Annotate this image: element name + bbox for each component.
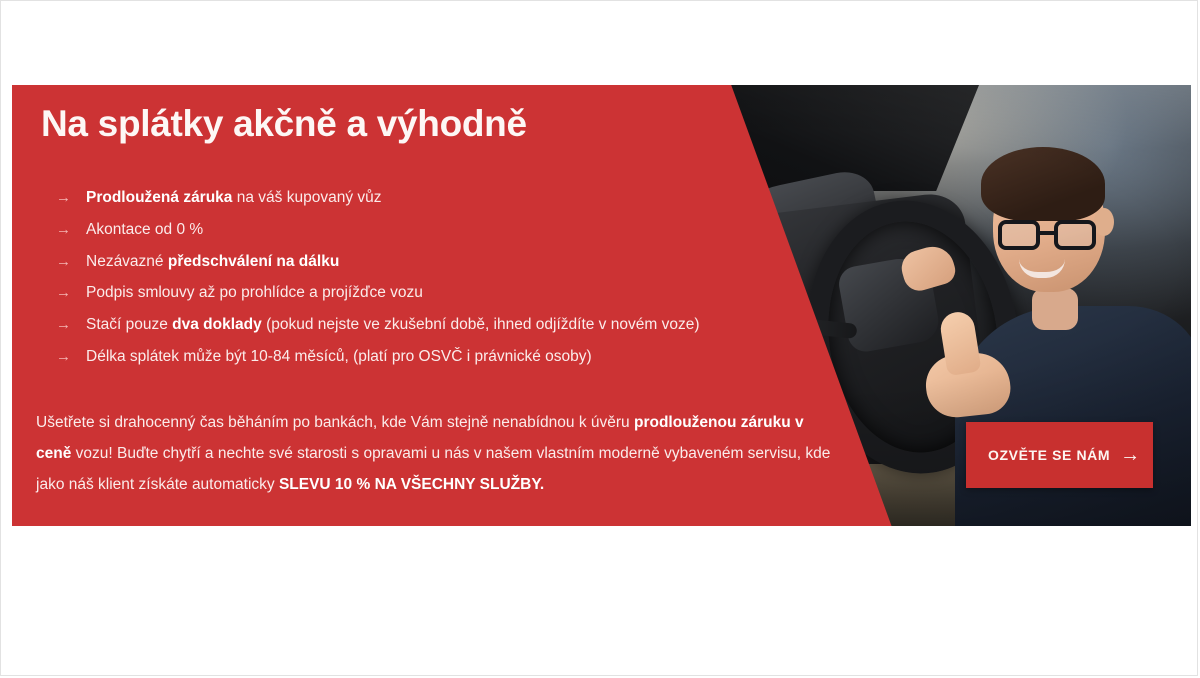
banner-content: Na splátky akčně a výhodně → Prodloužená… <box>12 85 1191 526</box>
page-frame: Na splátky akčně a výhodně → Prodloužená… <box>0 0 1198 676</box>
list-item-emphasis: Prodloužená záruka <box>86 189 232 206</box>
benefits-list: → Prodloužená záruka na váš kupovaný vůz… <box>56 189 816 380</box>
arrow-right-icon: → <box>56 253 86 270</box>
paragraph-part-1: Ušetřete si drahocenný čas běháním po ba… <box>36 414 634 431</box>
arrow-right-icon: → <box>56 316 86 333</box>
list-item-text: Stačí pouze dva doklady (pokud nejste ve… <box>86 316 816 334</box>
arrow-right-icon: → <box>56 348 86 365</box>
list-item-pre: Nezávazné <box>86 253 168 270</box>
list-item: → Podpis smlouvy až po prohlídce a projí… <box>56 284 816 302</box>
list-item: → Nezávazné předschválení na dálku <box>56 253 816 271</box>
list-item: → Délka splátek může být 10-84 měsíců, (… <box>56 348 816 366</box>
banner-headline: Na splátky akčně a výhodně <box>41 103 527 145</box>
arrow-right-icon: → <box>1120 445 1140 465</box>
list-item-rest: (pokud nejste ve zkušební době, ihned od… <box>262 316 700 333</box>
list-item-text: Délka splátek může být 10-84 měsíců, (pl… <box>86 348 816 366</box>
list-item-rest: Délka splátek může být 10-84 měsíců, (pl… <box>86 348 592 365</box>
list-item-rest: Akontace od 0 % <box>86 221 203 238</box>
list-item-pre: Stačí pouze <box>86 316 172 333</box>
list-item-text: Akontace od 0 % <box>86 221 816 239</box>
contact-us-button[interactable]: OZVĚTE SE NÁM → <box>966 422 1153 488</box>
list-item-emphasis: dva doklady <box>172 316 262 333</box>
contact-us-button-label: OZVĚTE SE NÁM <box>988 447 1110 463</box>
promo-banner: Na splátky akčně a výhodně → Prodloužená… <box>12 85 1191 526</box>
arrow-right-icon: → <box>56 189 86 206</box>
list-item-rest: Podpis smlouvy až po prohlídce a projížď… <box>86 284 423 301</box>
arrow-right-icon: → <box>56 284 86 301</box>
arrow-right-icon: → <box>56 221 86 238</box>
banner-paragraph: Ušetřete si drahocenný čas běháním po ba… <box>36 407 836 500</box>
list-item: → Akontace od 0 % <box>56 221 816 239</box>
list-item-text: Podpis smlouvy až po prohlídce a projížď… <box>86 284 816 302</box>
list-item-text: Nezávazné předschválení na dálku <box>86 253 816 271</box>
paragraph-emphasis-2: SLEVU 10 % NA VŠECHNY SLUŽBY. <box>279 476 544 493</box>
list-item-rest: na váš kupovaný vůz <box>232 189 381 206</box>
list-item-emphasis: předschválení na dálku <box>168 253 339 270</box>
list-item-text: Prodloužená záruka na váš kupovaný vůz <box>86 189 816 207</box>
list-item: → Stačí pouze dva doklady (pokud nejste … <box>56 316 816 334</box>
list-item: → Prodloužená záruka na váš kupovaný vůz <box>56 189 816 207</box>
